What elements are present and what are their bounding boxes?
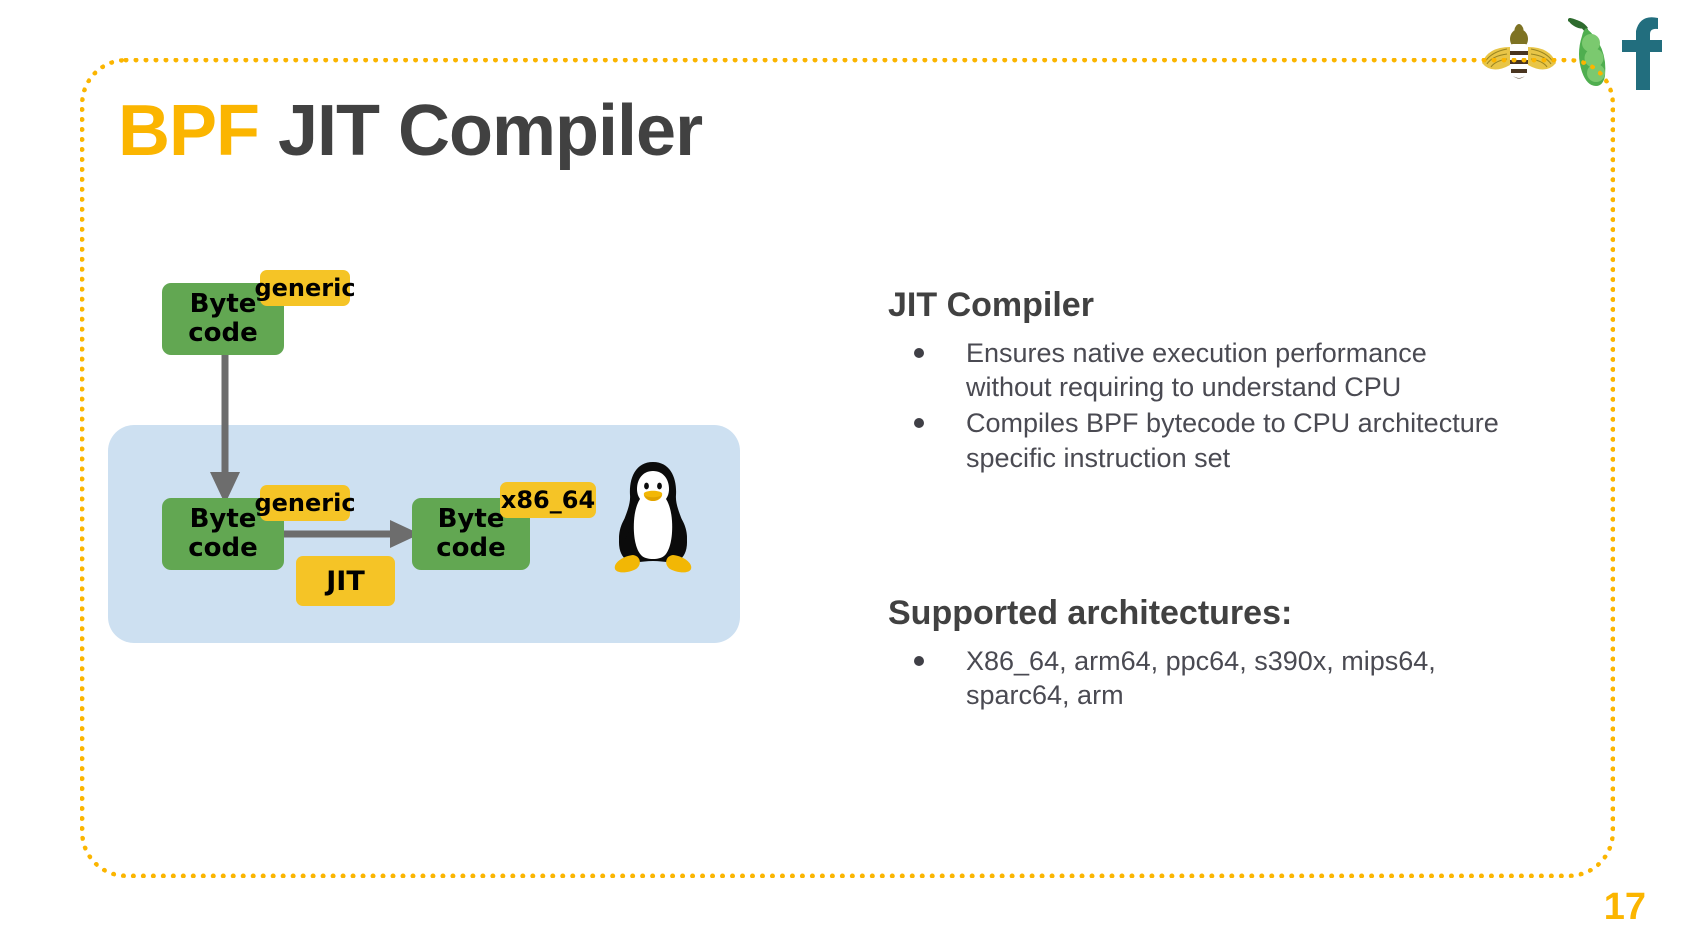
tag-generic-middle: generic bbox=[260, 485, 350, 521]
bytecode-box-right-line2: code bbox=[436, 534, 506, 563]
tag-jit: JIT bbox=[296, 556, 395, 606]
logo-group bbox=[1480, 12, 1664, 92]
bytecode-box-right-line1: Byte bbox=[438, 505, 505, 534]
right-content-column: JIT Compiler Ensures native execution pe… bbox=[888, 285, 1508, 714]
pea-pod-logo-icon bbox=[1562, 16, 1614, 88]
letter-f-logo-icon bbox=[1618, 14, 1664, 90]
bee-logo-icon bbox=[1480, 21, 1558, 83]
bytecode-box-middle-line2: code bbox=[188, 534, 258, 563]
page-number: 17 bbox=[1604, 888, 1646, 926]
list-item: Compiles BPF bytecode to CPU architectur… bbox=[888, 406, 1508, 475]
bytecode-box-top-line2: code bbox=[188, 319, 258, 348]
bullet-dot-icon bbox=[914, 348, 924, 358]
tag-x86-64: x86_64 bbox=[500, 482, 596, 518]
bullet-list-jit-compiler: Ensures native execution performance wit… bbox=[888, 336, 1508, 475]
jit-flow-diagram: Byte code Byte code Byte code generic ge… bbox=[100, 250, 800, 670]
section-heading-supported-architectures: Supported architectures: bbox=[888, 593, 1508, 634]
list-item-text: Compiles BPF bytecode to CPU architectur… bbox=[966, 408, 1499, 472]
section-heading-jit-compiler: JIT Compiler bbox=[888, 285, 1508, 326]
title-accent: BPF bbox=[118, 91, 259, 171]
bytecode-box-middle-line1: Byte bbox=[190, 505, 257, 534]
tag-generic-top: generic bbox=[260, 270, 350, 306]
list-item: Ensures native execution performance wit… bbox=[888, 336, 1508, 405]
bytecode-box-top-line1: Byte bbox=[190, 290, 257, 319]
title-rest: JIT Compiler bbox=[259, 91, 702, 171]
bullet-dot-icon bbox=[914, 418, 924, 428]
bullet-dot-icon bbox=[914, 656, 924, 666]
list-item: X86_64, arm64, ppc64, s390x, mips64, spa… bbox=[888, 644, 1508, 713]
list-item-text: X86_64, arm64, ppc64, s390x, mips64, spa… bbox=[966, 646, 1436, 710]
page-title: BPF JIT Compiler bbox=[118, 95, 702, 167]
list-item-text: Ensures native execution performance wit… bbox=[966, 338, 1427, 402]
bullet-list-architectures: X86_64, arm64, ppc64, s390x, mips64, spa… bbox=[888, 644, 1508, 713]
tux-penguin-icon bbox=[603, 457, 703, 577]
arrow-down bbox=[206, 348, 244, 508]
